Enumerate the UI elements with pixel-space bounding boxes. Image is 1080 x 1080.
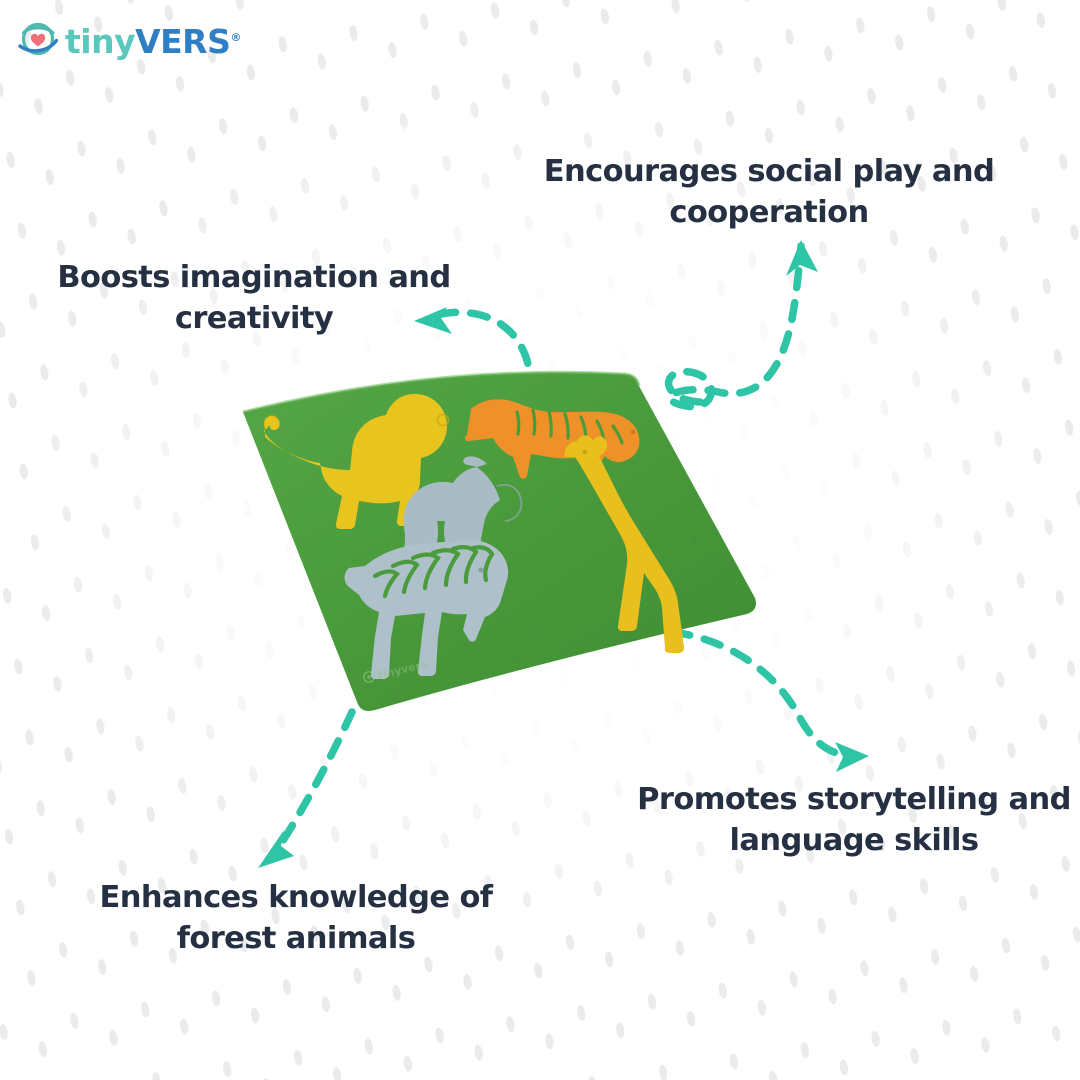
- tiger-eye-detail: [631, 430, 635, 434]
- puzzle-board-illustration: tinyvers: [225, 360, 785, 720]
- brand-wordmark: tinyVERS®: [65, 25, 241, 58]
- giraffe-eye-detail: [583, 450, 588, 455]
- product-image-forest-animals-puzzle: tinyvers: [225, 360, 785, 720]
- brand-name-part2: VERS: [135, 22, 230, 61]
- zebra-eye-detail: [478, 567, 483, 572]
- infographic-canvas: tinyVERS® Encourages social play and coo…: [0, 0, 1080, 1080]
- registered-trademark-symbol: ®: [230, 31, 241, 44]
- callout-text-imagination: Boosts imagination and creativity: [44, 258, 464, 339]
- brand-name-part1: tiny: [65, 22, 135, 61]
- callout-text-storytelling: Promotes storytelling and language skill…: [628, 780, 1080, 861]
- tinyvers-circle-heart-logo-icon: [18, 20, 58, 60]
- callout-text-social-play: Encourages social play and cooperation: [530, 152, 1008, 233]
- callout-text-forest-animals: Enhances knowledge of forest animals: [86, 878, 506, 959]
- brand-logo: tinyVERS®: [18, 16, 241, 64]
